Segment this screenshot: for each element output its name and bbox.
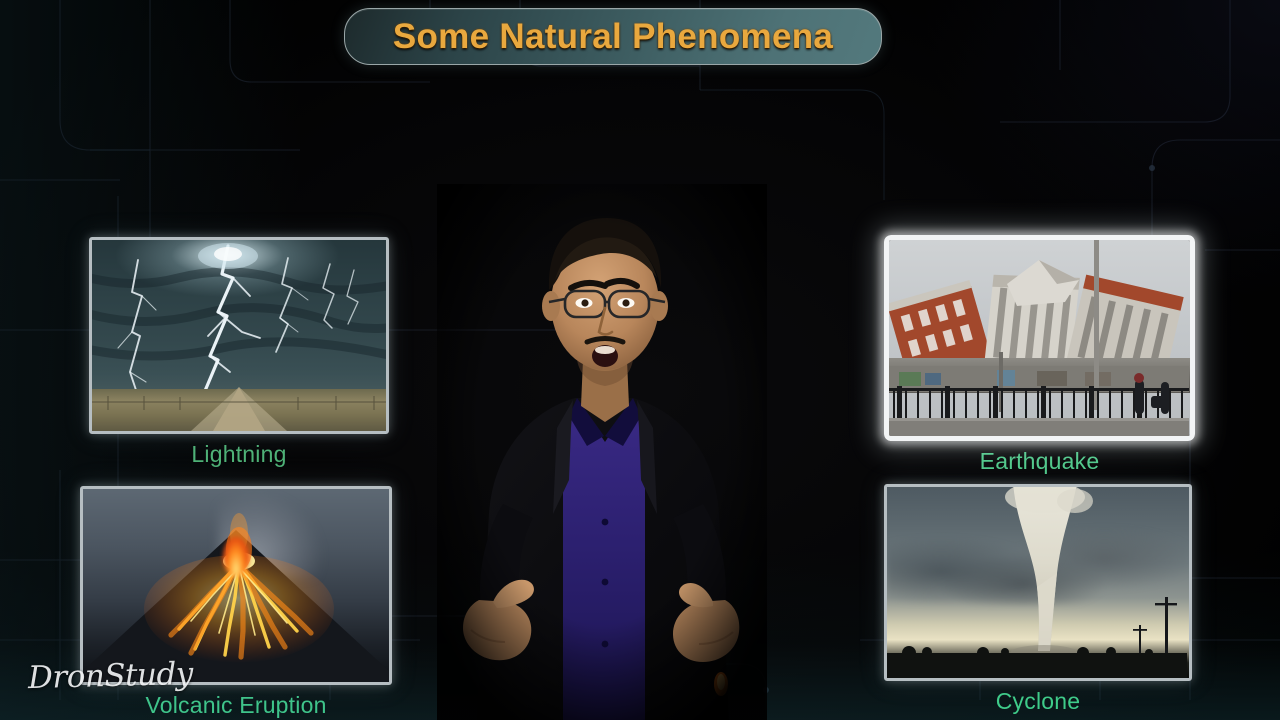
slide-stage: Some Natural Phenomena bbox=[0, 0, 1280, 720]
cyclone-illustration bbox=[887, 487, 1189, 678]
caption-cyclone: Cyclone bbox=[884, 688, 1192, 715]
presenter-video-overlay bbox=[437, 184, 767, 720]
image-frame-cyclone bbox=[884, 484, 1192, 681]
card-earthquake[interactable]: Earthquake bbox=[884, 235, 1195, 475]
caption-earthquake: Earthquake bbox=[884, 448, 1195, 475]
slide-title-bar: Some Natural Phenomena bbox=[344, 8, 882, 65]
volcano-illustration bbox=[83, 489, 389, 682]
earthquake-illustration bbox=[889, 240, 1190, 436]
caption-volcano: Volcanic Eruption bbox=[80, 692, 392, 719]
page-title: Some Natural Phenomena bbox=[393, 17, 833, 57]
image-frame-volcano bbox=[80, 486, 392, 685]
image-frame-earthquake bbox=[884, 235, 1195, 441]
card-cyclone[interactable]: Cyclone bbox=[884, 484, 1192, 715]
dronstudy-watermark: DronStudy bbox=[28, 656, 194, 696]
lightning-illustration bbox=[92, 240, 386, 431]
card-lightning[interactable]: Lightning bbox=[89, 237, 389, 468]
volcano-crater-glow bbox=[223, 537, 249, 577]
caption-lightning: Lightning bbox=[89, 441, 389, 468]
image-frame-lightning bbox=[89, 237, 389, 434]
